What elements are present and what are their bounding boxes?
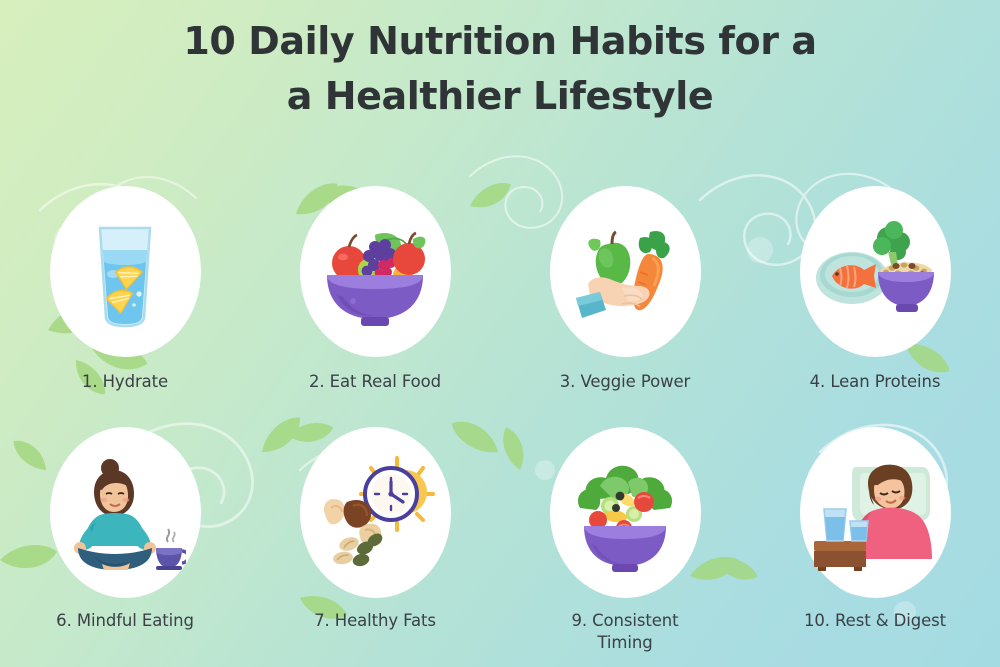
habit-icon-badge [300,186,451,357]
nuts-seeds-clock-icon [313,452,437,574]
habit-icon-badge [300,427,451,598]
tea-cup [156,529,186,570]
habit-label: 2. Eat Real Food [309,371,441,393]
resting-person-water-icon [812,455,938,571]
habit-card-healthy-fats[interactable]: 7. Healthy Fats [250,427,500,667]
meditating-woman-tea-icon [64,452,186,574]
fish-broccoli-grains-icon [812,216,938,328]
habit-icon-badge [800,186,951,357]
title-line-1: 10 Daily Nutrition Habits for a [0,14,1000,69]
seeds [332,530,385,567]
habit-icon-badge [800,427,951,598]
title-line-2: a Healthier Lifestyle [0,69,1000,124]
habit-icon-badge [50,186,201,357]
habit-icon-badge [550,427,701,598]
fruit-bowl-icon [313,213,437,331]
habit-label: 6. Mindful Eating [56,610,194,632]
habit-card-consistent-timing[interactable]: 9. ConsistentTiming [500,427,750,667]
salad-bowl-icon [566,452,684,574]
habit-label: 3. Veggie Power [560,371,690,393]
habit-label: 7. Healthy Fats [314,610,436,632]
habit-label: 10. Rest & Digest [804,610,946,632]
hand-apple-carrot-icon [566,210,684,334]
water-glass-lemon-icon [70,212,180,332]
poster-title: 10 Daily Nutrition Habits for a a Health… [0,14,1000,124]
habit-card-rest-digest[interactable]: 10. Rest & Digest [750,427,1000,667]
habit-card-mindful-eating[interactable]: 6. Mindful Eating [0,427,250,667]
habit-card-veggie-power[interactable]: 3. Veggie Power [500,186,750,427]
habit-label: 1. Hydrate [82,371,168,393]
habit-card-eat-real-food[interactable]: 2. Eat Real Food [250,186,500,427]
habit-card-lean-proteins[interactable]: 4. Lean Proteins [750,186,1000,427]
habit-icon-badge [550,186,701,357]
habit-icon-badge [50,427,201,598]
infographic-poster: 10 Daily Nutrition Habits for a a Health… [0,0,1000,667]
habit-label: 4. Lean Proteins [810,371,941,393]
carrot-greens [639,230,670,257]
habit-label: 9. ConsistentTiming [571,610,678,655]
habits-grid: 1. Hydrate [0,186,1000,667]
habit-card-hydrate[interactable]: 1. Hydrate [0,186,250,427]
